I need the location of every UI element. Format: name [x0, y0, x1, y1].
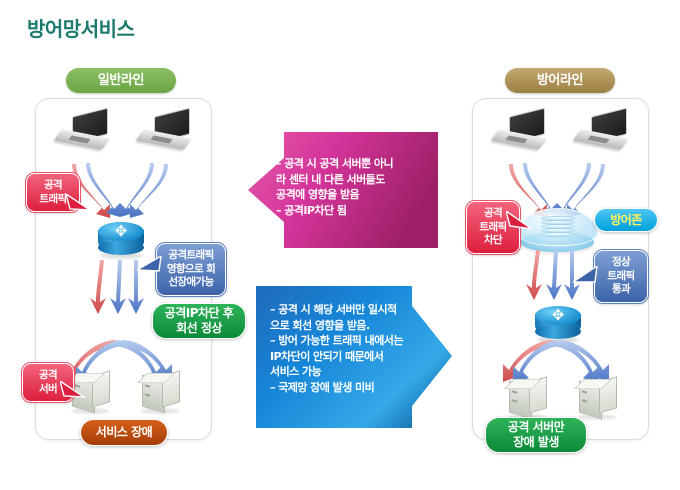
- callout-tail-line-fault: [137, 256, 163, 278]
- router-icon-right: ✥: [535, 306, 581, 342]
- header-pill-normal-line: 일반라인: [66, 68, 176, 93]
- callout-tail-attack-block: [506, 211, 534, 235]
- laptop-icon-left-1: [58, 112, 110, 150]
- router-icon-left: ✥: [98, 222, 144, 258]
- laptop-icon-right-2: [577, 112, 629, 150]
- arrow-magenta-text: – 공격 시 공격 서버뿐 아니 라 센터 내 다른 서버들도 공격에 영향을 …: [276, 156, 436, 218]
- callout-line-fault: 공격트래픽 영향으로 회 선장애가능: [156, 243, 226, 296]
- server-icon-left-2: [140, 372, 180, 414]
- callout-tail-attack-traffic: [66, 194, 92, 216]
- server-icon-right-1: [507, 378, 547, 420]
- diagram-canvas: 방어망서비스 일반라인 방어라인 ✥: [0, 0, 680, 490]
- callout-tail-attack-server: [60, 381, 86, 403]
- callout-tail-normal-traffic: [573, 266, 599, 288]
- status-ip-block: 공격IP차단 후 회선 정상: [152, 303, 246, 339]
- laptop-icon-left-2: [140, 112, 192, 150]
- arrow-blue-findings: – 공격 시 해당 서버만 일시적 으로 회선 영향을 받음. – 방어 가능한…: [256, 284, 452, 434]
- arrow-magenta-findings: – 공격 시 공격 서버뿐 아니 라 센터 내 다른 서버들도 공격에 영향을 …: [248, 130, 438, 254]
- page-title: 방어망서비스: [27, 13, 134, 42]
- server-icon-right-2: [577, 378, 617, 420]
- laptop-icon-right-1: [495, 112, 547, 150]
- label-defense-zone: 방어존: [594, 208, 658, 232]
- status-service-outage: 서비스 장애: [80, 419, 168, 446]
- header-pill-defense-line: 방어라인: [505, 68, 615, 93]
- callout-normal-traffic: 정상 트래픽 통과: [594, 250, 648, 303]
- status-partial-outage: 공격 서버만 장애 발생: [485, 417, 587, 453]
- arrow-blue-text: – 공격 시 해당 서버만 일시적 으로 회선 영향을 받음. – 방어 가능한…: [270, 302, 420, 395]
